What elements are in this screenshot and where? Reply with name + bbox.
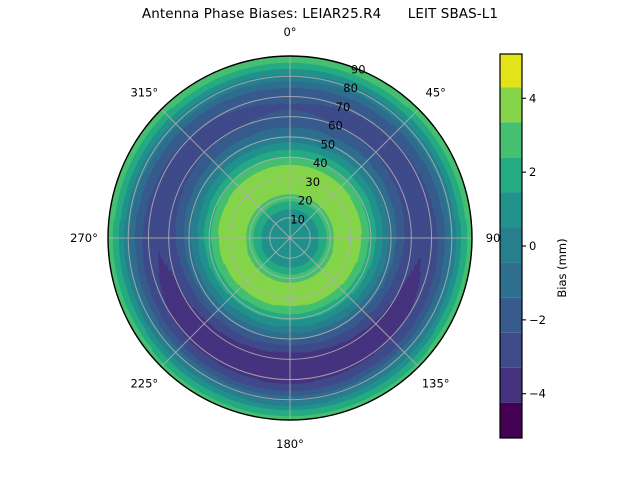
colorbar-band: [500, 368, 522, 403]
azimuth-tick-45[interactable]: 45°: [426, 85, 446, 99]
azimuth-tick-0[interactable]: 0°: [283, 25, 296, 39]
colorbar-label: Bias (mm): [555, 238, 569, 297]
radial-tick-80[interactable]: 80: [343, 81, 358, 95]
colorbar-band: [500, 333, 522, 368]
azimuth-tick-135[interactable]: 135°: [422, 377, 450, 391]
colorbar-tick-label: 4: [529, 91, 536, 105]
azimuth-tick-315[interactable]: 315°: [130, 85, 158, 99]
colorbar-tick-label: −4: [529, 387, 546, 401]
colorbar-band: [500, 263, 522, 298]
radial-tick-10[interactable]: 10: [290, 212, 305, 226]
polar-gridlines: [108, 56, 472, 420]
polar-contour-plot: 0°45°90°135°180°225°270°315° 10203040506…: [0, 0, 640, 480]
colorbar-band: [500, 403, 522, 438]
colorbar[interactable]: −4−2024: [500, 54, 546, 438]
colorbar-tick-label: 0: [529, 239, 536, 253]
colorbar-tick-label: −2: [529, 313, 546, 327]
colorbar-band: [500, 54, 522, 87]
figure-canvas: Antenna Phase Biases: LEIAR25.R4 LEIT SB…: [0, 0, 640, 480]
colorbar-band: [500, 192, 522, 227]
radial-tick-90[interactable]: 90: [351, 62, 366, 76]
colorbar-band: [500, 298, 522, 333]
radial-tick-20[interactable]: 20: [298, 194, 313, 208]
colorbar-band: [500, 228, 522, 263]
radial-tick-30[interactable]: 30: [305, 175, 320, 189]
radial-tick-40[interactable]: 40: [313, 156, 328, 170]
azimuth-tick-180[interactable]: 180°: [276, 437, 304, 451]
azimuth-tick-225[interactable]: 225°: [130, 377, 158, 391]
radial-tick-60[interactable]: 60: [328, 119, 343, 133]
azimuth-tick-270[interactable]: 270°: [70, 231, 98, 245]
colorbar-tick-label: 2: [529, 165, 536, 179]
radial-tick-50[interactable]: 50: [321, 137, 336, 151]
radial-tick-70[interactable]: 70: [336, 100, 351, 114]
page-title: Antenna Phase Biases: LEIAR25.R4 LEIT SB…: [0, 6, 640, 22]
colorbar-band: [500, 122, 522, 157]
colorbar-band: [500, 157, 522, 192]
colorbar-band: [500, 87, 522, 122]
